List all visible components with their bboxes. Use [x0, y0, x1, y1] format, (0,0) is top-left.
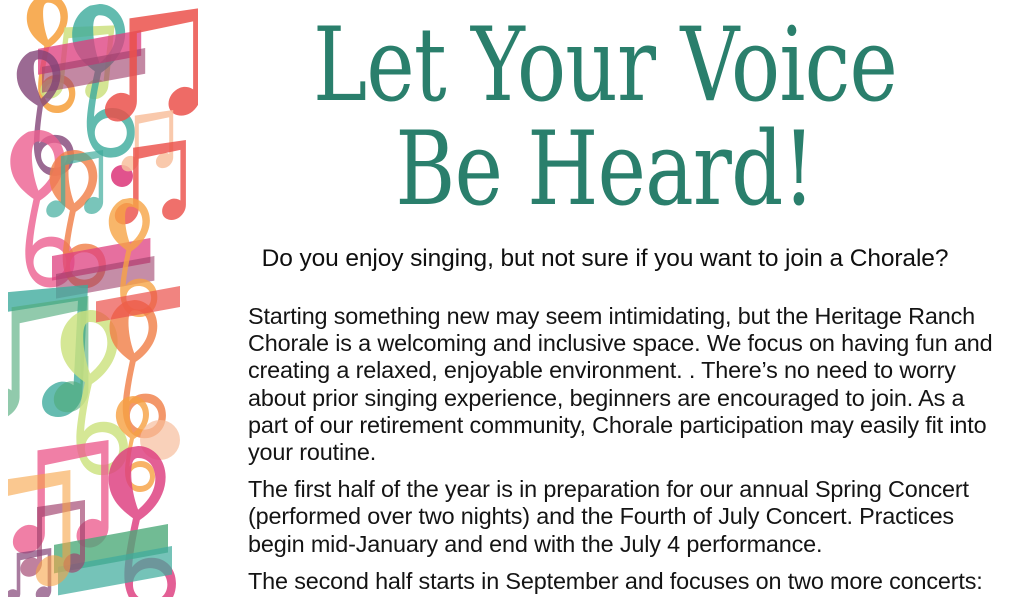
music-notes-artwork	[8, 0, 198, 597]
paragraph-2: The first half of the year is in prepara…	[248, 476, 1003, 558]
poster-canvas: Let Your Voice Be Heard! Do you enjoy si…	[0, 0, 1024, 597]
content-column: Let Your Voice Be Heard! Do you enjoy si…	[210, 0, 1024, 597]
page-title-line-2: Be Heard!	[289, 118, 921, 222]
paragraph-1-text: Starting something new may seem intimida…	[248, 303, 993, 465]
paragraph-2-text: The first half of the year is in prepara…	[248, 476, 969, 556]
paragraph-3: The second half starts in September and …	[248, 568, 1003, 597]
page-title: Let Your Voice Be Heard!	[210, 14, 1000, 222]
subtitle: Do you enjoy singing, but not sure if yo…	[210, 243, 1000, 275]
music-notes-collage	[8, 0, 198, 597]
body-paragraphs: Starting something new may seem intimida…	[248, 303, 1003, 597]
paragraph-1: Starting something new may seem intimida…	[248, 303, 1003, 466]
paragraph-3-text: The second half starts in September and …	[248, 568, 983, 597]
page-title-line-1: Let Your Voice	[289, 14, 921, 118]
